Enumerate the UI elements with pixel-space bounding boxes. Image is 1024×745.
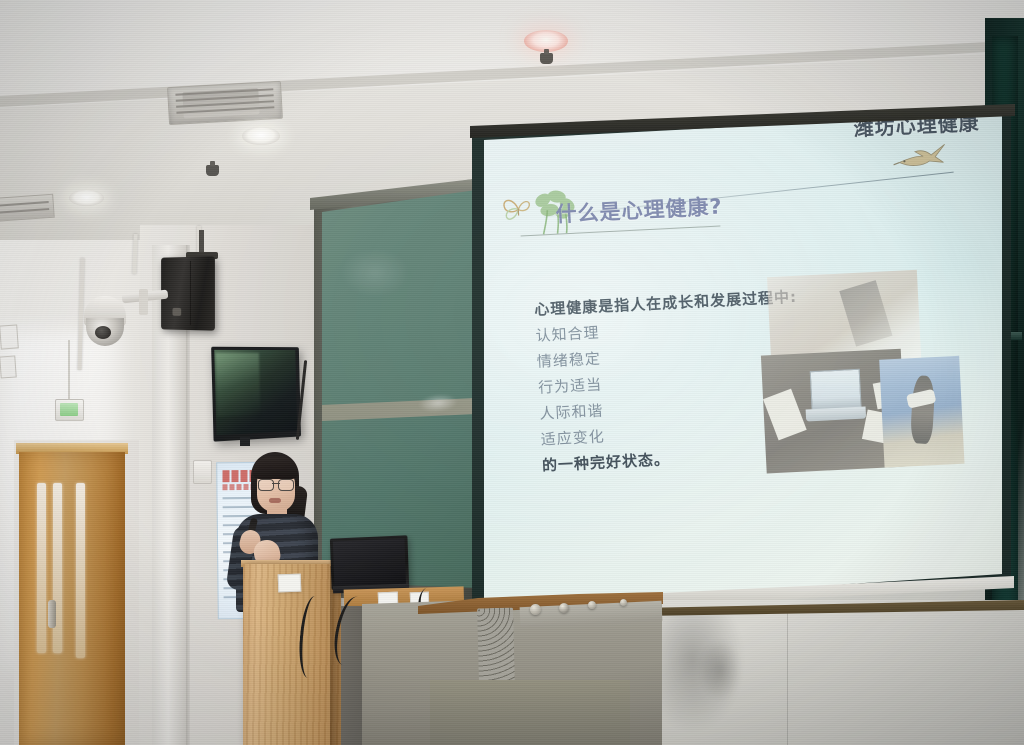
- slide-title: 什么是心理健康?: [555, 190, 723, 228]
- wall-frame: [0, 324, 19, 349]
- wall-frame: [0, 355, 17, 378]
- sign-hanging-wire: [68, 340, 70, 400]
- ceiling-speaker: [161, 256, 215, 330]
- console-knob[interactable]: [588, 601, 596, 609]
- hummingbird-icon: [892, 138, 950, 175]
- presenter-laptop[interactable]: [330, 535, 409, 590]
- tv-window-reflection: [215, 353, 260, 417]
- wall-mounted-tv[interactable]: [211, 347, 301, 442]
- console-knob[interactable]: [530, 604, 541, 615]
- speaker-seam: [190, 261, 191, 325]
- vent-slat: [0, 208, 49, 214]
- console-knob[interactable]: [620, 599, 627, 606]
- tv-mount: [240, 437, 250, 446]
- emergency-exit-sign: [55, 399, 84, 421]
- presenter-mouth: [269, 498, 281, 503]
- collage-yoga-figure: [910, 375, 936, 444]
- glasses-lens: [278, 479, 294, 491]
- collage-laptop-base: [806, 407, 867, 422]
- presenter-fringe: [253, 457, 298, 479]
- wooden-double-door[interactable]: [19, 452, 125, 745]
- slide-photo-collage: [757, 268, 963, 476]
- recessed-downlight: [69, 190, 104, 206]
- wall-seam: [787, 610, 788, 745]
- wall-scuff-mark: [700, 640, 740, 700]
- vent-slat: [0, 201, 49, 207]
- glasses-lens: [258, 479, 274, 491]
- console-base: [430, 680, 630, 745]
- collage-paper: [763, 389, 807, 441]
- wall-outlet[interactable]: [193, 460, 212, 484]
- ceiling-air-vent-left: [0, 194, 55, 223]
- glasses-bridge: [272, 483, 280, 484]
- exit-sign-green-panel: [60, 403, 78, 416]
- podium-asset-label: [278, 574, 302, 593]
- ceiling-air-vent: [167, 81, 283, 125]
- presentation-slide: 潍坊心理健康: [466, 104, 1011, 614]
- door-handle[interactable]: [48, 600, 56, 628]
- recessed-downlight: [242, 127, 280, 145]
- camera-lens-icon: [95, 326, 111, 339]
- collage-laptop-icon: [810, 369, 862, 411]
- console-knob[interactable]: [559, 603, 569, 613]
- fire-sprinkler-head: [206, 165, 219, 176]
- lecture-hall-photo: 潍坊心理健康: [0, 0, 1024, 745]
- chalk-smudge: [340, 248, 410, 298]
- collage-photo-yoga-beach: [879, 356, 964, 468]
- fire-sprinkler-head: [540, 53, 553, 64]
- console-speaker-grille: [477, 608, 515, 686]
- slide-content: 潍坊心理健康: [466, 77, 1024, 613]
- camera-mount-base: [139, 289, 148, 315]
- glasses-icon: [258, 479, 294, 489]
- door-glass-panel: [37, 483, 46, 653]
- door-glass-panel: [76, 483, 85, 658]
